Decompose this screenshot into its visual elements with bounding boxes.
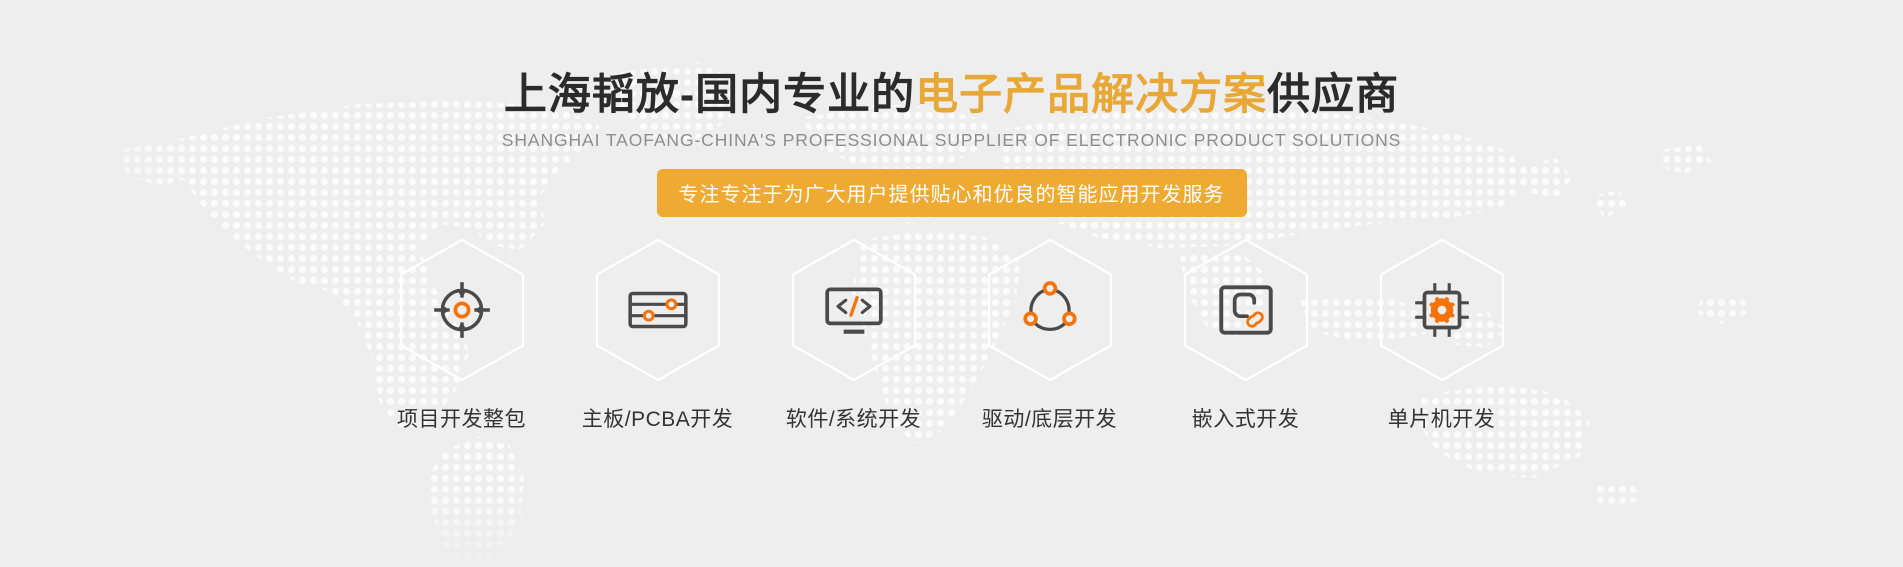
mcu-gear-icon xyxy=(1409,277,1475,343)
target-icon xyxy=(429,277,495,343)
headline-lead: 上海韬放-国内专业的 xyxy=(504,71,915,119)
service-item-pcba[interactable]: 主板/PCBA开发 xyxy=(560,237,756,433)
page-subtitle: SHANGHAI TAOFANG-CHINA'S PROFESSIONAL SU… xyxy=(502,130,1401,151)
hexagon-frame xyxy=(397,237,527,383)
hexagon-frame xyxy=(789,237,919,383)
service-label: 主板/PCBA开发 xyxy=(582,403,734,433)
service-label: 单片机开发 xyxy=(1388,403,1496,433)
tagline-badge: 专注专注于为广大用户提供贴心和优良的智能应用开发服务 xyxy=(657,169,1247,217)
headline-accent: 电子产品解决方案 xyxy=(915,71,1267,119)
service-item-embedded[interactable]: 嵌入式开发 xyxy=(1148,237,1344,433)
hero-banner: 上海韬放-国内专业的电子产品解决方案供应商 SHANGHAI TAOFANG-C… xyxy=(0,0,1903,567)
services-row: 项目开发整包 xyxy=(364,237,1540,433)
page-title: 上海韬放-国内专业的电子产品解决方案供应商 xyxy=(504,72,1399,119)
service-label: 嵌入式开发 xyxy=(1192,403,1300,433)
hexagon-frame xyxy=(1377,237,1507,383)
service-item-driver[interactable]: 驱动/底层开发 xyxy=(952,237,1148,433)
hexagon-frame xyxy=(593,237,723,383)
service-label: 项目开发整包 xyxy=(397,403,526,433)
service-item-mcu[interactable]: 单片机开发 xyxy=(1344,237,1540,433)
chip-link-icon xyxy=(1213,277,1279,343)
tagline-wrapper: 专注专注于为广大用户提供贴心和优良的智能应用开发服务 xyxy=(657,169,1247,217)
headline-tail: 供应商 xyxy=(1267,71,1399,119)
hexagon-frame xyxy=(1181,237,1311,383)
nodes-network-icon xyxy=(1017,277,1083,343)
hexagon-frame xyxy=(985,237,1115,383)
code-monitor-icon xyxy=(821,277,887,343)
circuit-board-icon xyxy=(625,277,691,343)
service-item-project-package[interactable]: 项目开发整包 xyxy=(364,237,560,433)
service-label: 软件/系统开发 xyxy=(786,403,921,433)
service-item-software[interactable]: 软件/系统开发 xyxy=(756,237,952,433)
service-label: 驱动/底层开发 xyxy=(982,403,1117,433)
